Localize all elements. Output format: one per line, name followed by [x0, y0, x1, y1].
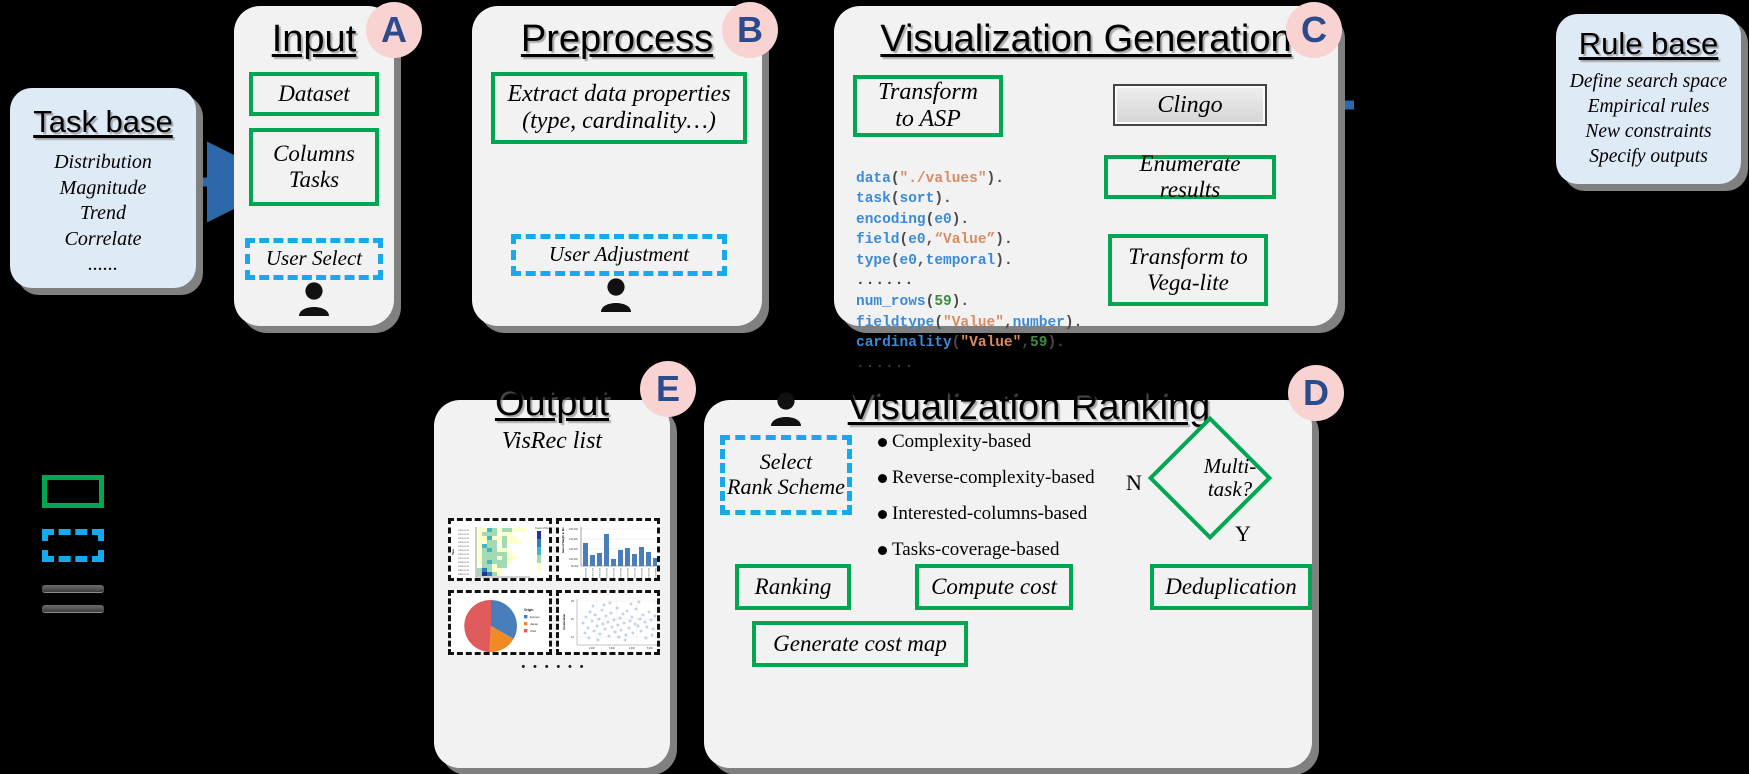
compute-cost-label: Compute cost	[931, 574, 1057, 600]
dataset-box[interactable]: Dataset	[249, 72, 379, 116]
preprocess-title: Preprocess	[472, 18, 762, 61]
asp-line-2: to ASP	[895, 106, 961, 133]
rule-base-line-3: Specify outputs	[1556, 145, 1741, 170]
bullet-icon	[878, 510, 887, 519]
bullet-icon	[878, 474, 887, 483]
generate-cost-map-label: Generate cost map	[773, 631, 947, 657]
user-icon-preprocess	[598, 278, 634, 312]
output-panel: Output VisRec list	[434, 400, 670, 768]
multitask-line-2: task?	[1208, 478, 1252, 501]
ranking-box[interactable]: Ranking	[735, 564, 851, 610]
svg-text:3,000: 3,000	[609, 648, 615, 650]
transform-to-vegalite-box[interactable]: Transform to Vega-lite	[1108, 234, 1268, 306]
badge-a: A	[366, 2, 422, 58]
svg-text:Acceleration: Acceleration	[562, 614, 566, 630]
svg-text:1974-01-01: 1974-01-01	[612, 568, 614, 579]
svg-text:1976-01-01: 1976-01-01	[458, 554, 470, 556]
ranking-title: Visualization Ranking	[746, 386, 1312, 429]
visrec-list-subtitle: VisRec list	[434, 428, 670, 455]
bullet-icon	[878, 546, 887, 555]
vega-line-2: Vega-lite	[1147, 270, 1229, 296]
heatmap-thumbnail[interactable]: Count of Records 4080120 160200240 1970-…	[448, 518, 552, 581]
extract-line-2: (type, cardinality…)	[522, 108, 716, 135]
select-rank-line-2: Rank Scheme	[727, 475, 845, 500]
svg-text:1971-01-01: 1971-01-01	[591, 568, 593, 579]
pie-chart-svg: Origin Europe Japan USA	[451, 593, 552, 655]
columns-tasks-box[interactable]: Columns Tasks	[249, 128, 379, 206]
svg-text:1972-01-01: 1972-01-01	[598, 568, 600, 579]
generate-cost-map-box[interactable]: Generate cost map	[752, 621, 968, 667]
svg-text:60,000: 60,000	[571, 565, 579, 568]
rule-base-title: Rule base	[1556, 26, 1741, 62]
asp-code-block: data("./values"). task(sort). encoding(e…	[856, 148, 1082, 395]
svg-text:1974-01-01: 1974-01-01	[458, 546, 470, 548]
multitask-line-1: Multi-	[1204, 455, 1257, 478]
diagram-canvas: Task base Distribution Magnitude Trend C…	[0, 0, 1749, 774]
user-adjustment-box[interactable]: User Adjustment	[511, 234, 727, 276]
rank-scheme-item-2[interactable]: Interested-columns-based	[878, 496, 1108, 532]
svg-text:USA: USA	[530, 629, 536, 633]
svg-text:120: 120	[501, 578, 506, 581]
output-ellipsis: ······	[448, 652, 660, 682]
extract-data-properties-box[interactable]: Extract data properties (type, cardinali…	[491, 72, 747, 144]
scatter-plot-thumbnail[interactable]: 252015 2,0003,000 4,0005,000 Acceleratio…	[556, 590, 660, 655]
rank-scheme-label-2: Interested-columns-based	[892, 503, 1087, 525]
multitask-label: Multi- task?	[1155, 452, 1305, 504]
visgen-title: Visualization Generation	[834, 18, 1338, 61]
enumerate-label: Enumerate results	[1108, 151, 1272, 203]
legend-gray-panel	[42, 585, 104, 612]
branch-label-yes: Y	[1235, 521, 1251, 547]
asp-line-1: Transform	[878, 79, 978, 106]
rank-scheme-item-3[interactable]: Tasks-coverage-based	[878, 532, 1108, 568]
transform-to-asp-box[interactable]: Transform to ASP	[853, 75, 1003, 137]
rank-scheme-label-3: Tasks-coverage-based	[892, 539, 1059, 561]
extract-line-1: Extract data properties	[507, 81, 730, 108]
rule-base-panel: Rule base Define search space Empirical …	[1556, 14, 1741, 184]
svg-text:Europe: Europe	[530, 615, 540, 619]
badge-e: E	[640, 361, 696, 417]
legend-gray-bar-2	[42, 605, 104, 612]
task-base-line-4: ......	[10, 252, 196, 278]
user-adjustment-label: User Adjustment	[549, 243, 689, 267]
svg-text:Count of Records: Count of Records	[535, 526, 552, 530]
task-base-lines: Distribution Magnitude Trend Correlate .…	[10, 150, 196, 278]
svg-text:Year: Year	[643, 580, 648, 581]
svg-text:1970-01-01: 1970-01-01	[584, 568, 586, 579]
svg-text:1978-01-01: 1978-01-01	[640, 568, 642, 579]
svg-text:200: 200	[521, 578, 526, 581]
svg-text:Japan: Japan	[530, 622, 539, 626]
svg-text:4,000: 4,000	[629, 648, 635, 650]
svg-text:160: 160	[512, 578, 517, 581]
rank-scheme-list: Complexity-based Reverse-complexity-base…	[878, 424, 1108, 568]
svg-text:1973-01-01: 1973-01-01	[458, 542, 470, 544]
task-base-line-3: Correlate	[10, 227, 196, 253]
svg-text:1975-01-01: 1975-01-01	[619, 568, 621, 579]
columns-label: Columns	[273, 141, 355, 167]
svg-text:1978-01-01: 1978-01-01	[458, 562, 470, 564]
rule-base-line-2: New constraints	[1556, 120, 1741, 145]
legend-blue-dashed-box	[42, 529, 104, 562]
pie-chart-thumbnail[interactable]: Origin Europe Japan USA	[448, 590, 552, 655]
legend-green-box	[42, 475, 104, 508]
svg-text:160,000: 160,000	[569, 528, 578, 531]
rank-scheme-item-0[interactable]: Complexity-based	[878, 424, 1108, 460]
svg-text:80: 80	[490, 578, 493, 581]
svg-text:1973-01-01: 1973-01-01	[605, 568, 607, 579]
rank-scheme-label-0: Complexity-based	[892, 431, 1031, 453]
rule-base-line-0: Define search space	[1556, 70, 1741, 95]
task-base-line-0: Distribution	[10, 150, 196, 176]
tasks-label: Tasks	[289, 167, 339, 193]
svg-text:Origin: Origin	[524, 608, 533, 612]
deduplication-label: Deduplication	[1165, 574, 1297, 600]
badge-d: D	[1288, 365, 1344, 421]
user-select-label: User Select	[266, 247, 362, 271]
output-title: Output	[434, 382, 670, 425]
enumerate-results-box[interactable]: Enumerate results	[1104, 155, 1276, 199]
svg-text:1975-01-01: 1975-01-01	[458, 550, 470, 552]
task-base-title: Task base	[10, 104, 196, 140]
svg-text:Sum of Weight in lbs: Sum of Weight in lbs	[561, 527, 565, 553]
user-select-box[interactable]: User Select	[245, 238, 383, 280]
svg-text:1979-01-01: 1979-01-01	[458, 566, 470, 568]
badge-b: B	[722, 2, 778, 58]
svg-text:2,000: 2,000	[589, 648, 595, 650]
svg-text:Year: Year	[451, 548, 455, 555]
badge-c: C	[1286, 2, 1342, 58]
vega-line-1: Transform to	[1128, 244, 1248, 270]
svg-text:1971-01-01: 1971-01-01	[458, 534, 470, 536]
scatter-svg: 252015 2,0003,000 4,0005,000 Acceleratio…	[559, 593, 660, 655]
svg-text:1970-01-01: 1970-01-01	[458, 530, 470, 532]
svg-text:100,000: 100,000	[569, 558, 578, 561]
svg-text:5,000: 5,000	[647, 648, 653, 650]
svg-text:1979-01-01: 1979-01-01	[647, 568, 649, 579]
task-base-line-1: Magnitude	[10, 176, 196, 202]
user-icon-ranking	[768, 392, 804, 426]
bullet-icon	[878, 438, 887, 447]
svg-text:1977-01-01: 1977-01-01	[458, 558, 470, 560]
select-rank-line-1: Select	[760, 450, 813, 475]
legend-gray-bar-1	[42, 585, 104, 592]
svg-text:1982-01-01: 1982-01-01	[458, 574, 470, 576]
svg-text:1977-01-01: 1977-01-01	[633, 568, 635, 579]
svg-text:1976-01-01: 1976-01-01	[626, 568, 628, 579]
task-base-panel: Task base Distribution Magnitude Trend C…	[10, 88, 196, 288]
heatmap-svg: Count of Records 4080120 160200240 1970-…	[451, 521, 552, 581]
svg-text:40: 40	[478, 578, 481, 581]
dataset-label: Dataset	[278, 81, 350, 107]
user-icon-input	[296, 282, 332, 316]
svg-text:1972-01-01: 1972-01-01	[458, 538, 470, 540]
deduplication-box[interactable]: Deduplication	[1150, 564, 1312, 610]
rule-base-lines: Define search space Empirical rules New …	[1556, 70, 1741, 170]
compute-cost-box[interactable]: Compute cost	[915, 564, 1073, 610]
svg-text:240: 240	[527, 578, 532, 581]
svg-text:140,000: 140,000	[569, 538, 578, 541]
svg-text:1980-01-01: 1980-01-01	[654, 568, 656, 579]
bar-chart-thumbnail[interactable]: 160,000140,000 120,000100,000 60,000 197…	[556, 518, 660, 581]
svg-text:120,000: 120,000	[569, 548, 578, 551]
clingo-box[interactable]: Clingo	[1113, 84, 1267, 126]
ranking-label: Ranking	[755, 574, 832, 600]
clingo-label: Clingo	[1157, 92, 1222, 119]
branch-label-no: N	[1126, 470, 1142, 496]
task-base-line-2: Trend	[10, 201, 196, 227]
bar-chart-svg: 160,000140,000 120,000100,000 60,000 197…	[559, 521, 660, 581]
legend	[42, 475, 152, 635]
select-rank-scheme-box[interactable]: Select Rank Scheme	[720, 435, 852, 515]
rank-scheme-item-1[interactable]: Reverse-complexity-based	[878, 460, 1108, 496]
svg-text:1980-01-01: 1980-01-01	[458, 570, 470, 572]
rank-scheme-label-1: Reverse-complexity-based	[892, 467, 1095, 489]
rule-base-line-1: Empirical rules	[1556, 95, 1741, 120]
